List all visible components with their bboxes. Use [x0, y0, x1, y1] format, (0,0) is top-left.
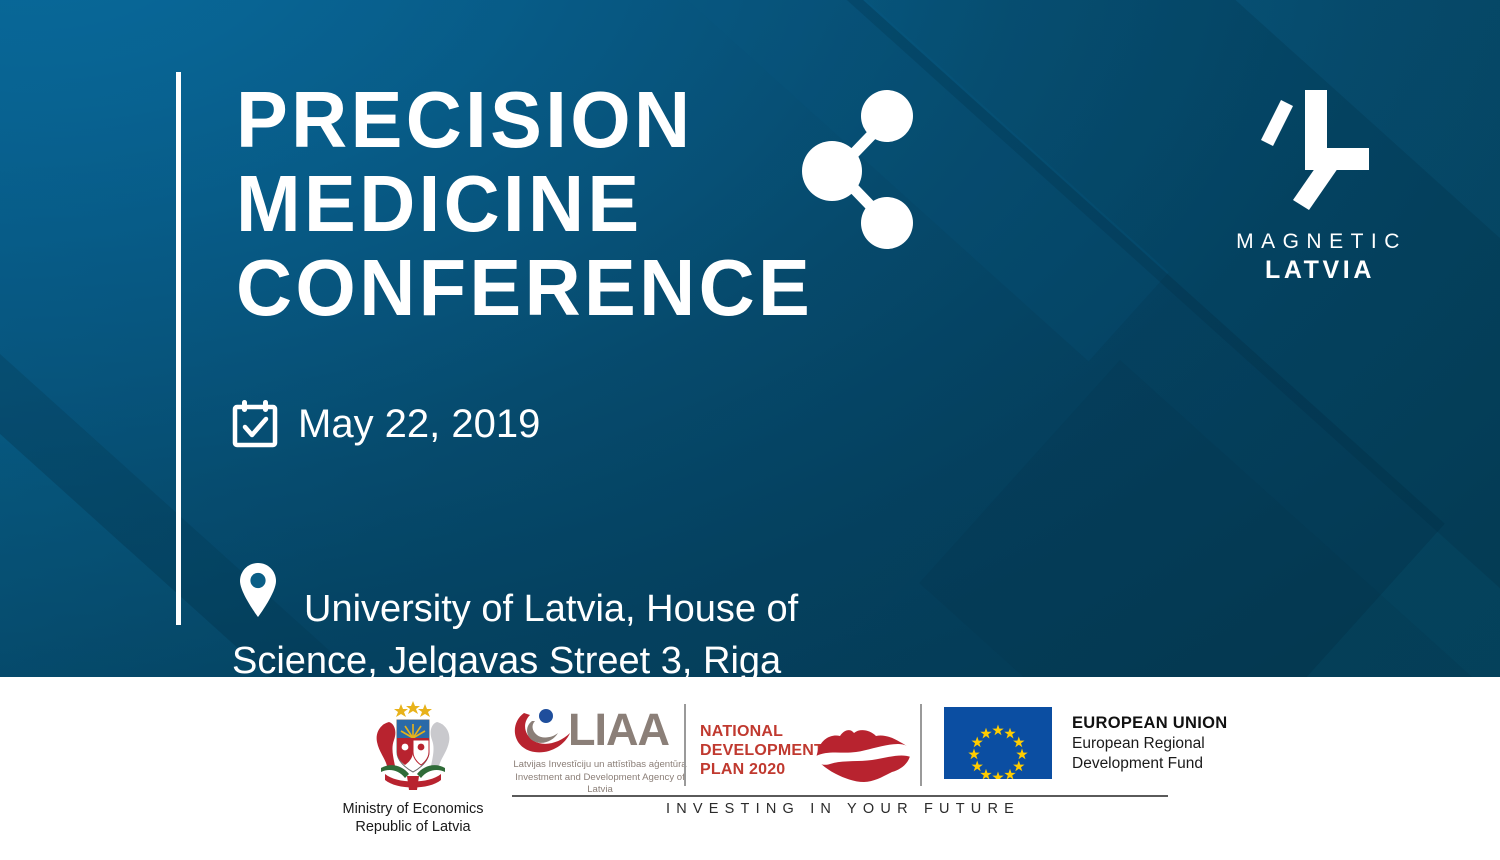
decorative-diagonal-band [919, 360, 1500, 677]
footer-logo-bar: Ministry of Economics Republic of Latvia… [0, 677, 1500, 860]
eu-line-2: Development Fund [1072, 754, 1227, 774]
national-development-plan-logo: NATIONAL DEVELOPMENT PLAN 2020 [700, 722, 824, 779]
event-date: May 22, 2019 [298, 399, 540, 449]
liaa-logo: LIAA Latvijas Investīciju un attīstības … [512, 705, 688, 797]
ministry-line-1: Ministry of Economics [318, 800, 508, 818]
ministry-of-economics-logo: Ministry of Economics Republic of Latvia [318, 700, 508, 836]
event-meta: May 22, 2019 University of Latvia, House… [232, 395, 952, 483]
eu-flag-icon [944, 707, 1052, 779]
decorative-diagonal-band [0, 600, 190, 677]
footer-separator [920, 704, 922, 786]
brand-name-bottom: LATVIA [1228, 255, 1408, 285]
ndp-line-3: PLAN 2020 [700, 760, 824, 779]
title-accent-rule [176, 72, 181, 625]
conference-slide: PRECISION MEDICINE CONFERENCE May 22, 20… [0, 0, 1500, 860]
liaa-subtitle-en: Investment and Development Agency of Lat… [512, 772, 688, 797]
ministry-line-2: Republic of Latvia [318, 818, 508, 836]
footer-separator [684, 704, 686, 786]
event-location: University of Latvia, House of Science, … [232, 583, 932, 677]
footer-tagline: INVESTING IN YOUR FUTURE [512, 801, 1168, 817]
hero-panel: PRECISION MEDICINE CONFERENCE May 22, 20… [0, 0, 1500, 677]
liaa-swirl-icon [512, 707, 576, 755]
brand-name-top: MAGNETIC [1228, 229, 1408, 255]
tagline-divider [512, 795, 1168, 797]
ndp-line-2: DEVELOPMENT [700, 741, 824, 760]
title-line-3: CONFERENCE [236, 246, 973, 330]
eu-line-1: European Regional [1072, 734, 1227, 754]
european-union-logo: EUROPEAN UNION European Regional Develop… [944, 707, 1227, 779]
liaa-subtitle-lv: Latvijas Investīciju un attīstības aģent… [512, 759, 688, 772]
calendar-check-icon [232, 400, 278, 448]
event-date-row: May 22, 2019 [232, 395, 952, 463]
latvia-coat-of-arms-icon [361, 700, 465, 796]
share-network-icon [795, 83, 920, 253]
liaa-wordmark: LIAA [568, 705, 669, 755]
ndp-line-1: NATIONAL [700, 722, 824, 741]
magnetic-latvia-logo: MAGNETIC LATVIA [1228, 88, 1408, 285]
magnetic-latvia-mark-icon [1253, 88, 1383, 213]
eu-title: EUROPEAN UNION [1072, 712, 1227, 734]
latvia-map-icon [812, 720, 916, 788]
